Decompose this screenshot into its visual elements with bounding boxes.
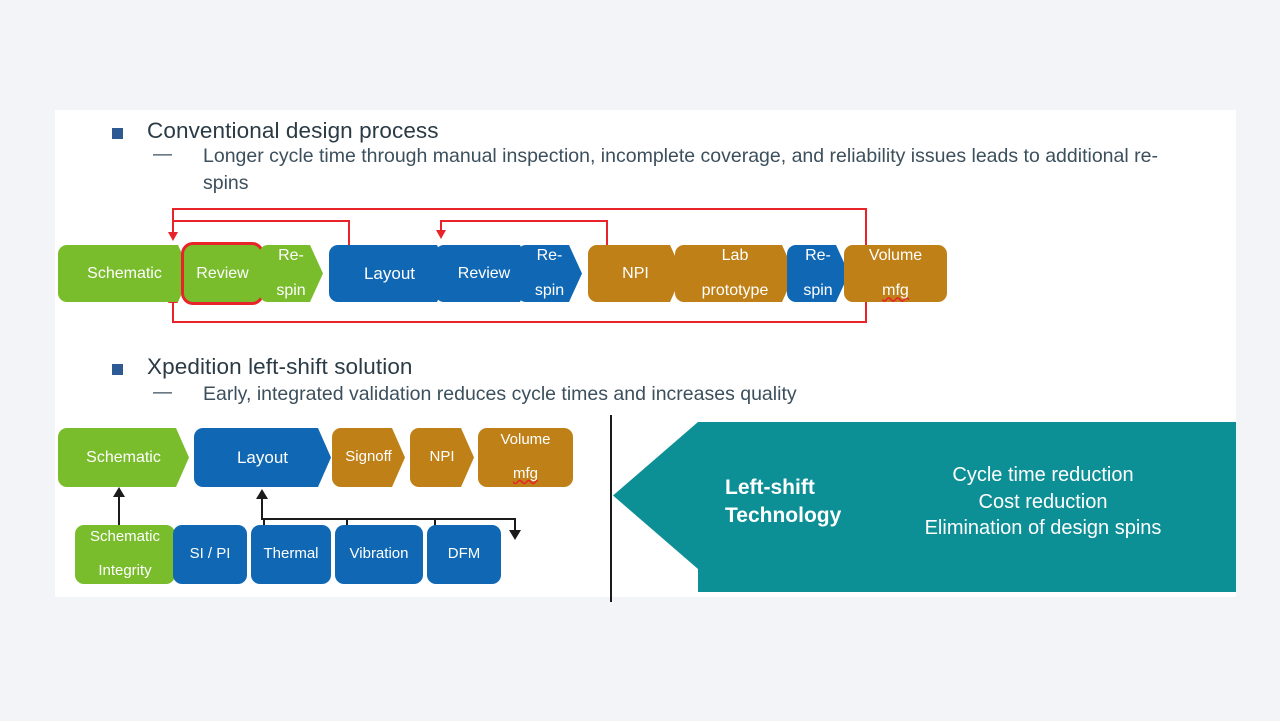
feedback-line-outer-right xyxy=(865,208,867,245)
flow-step-npi-1-label: NPI xyxy=(622,265,649,283)
ls-volume-line-1: Volume xyxy=(500,432,550,449)
flow-step-respin-2-label: Re- spin xyxy=(535,247,564,301)
ls-box-dfm[interactable]: DFM xyxy=(427,525,501,584)
flow-step-npi-1[interactable]: NPI xyxy=(588,245,683,302)
flow-step-respin-1-label: Re- spin xyxy=(276,247,305,301)
ls-step-npi-label: NPI xyxy=(429,449,454,466)
flow-step-schematic-label: Schematic xyxy=(87,265,162,283)
banner-benefit-item: Cost reduction xyxy=(853,489,1233,516)
flow-step-lab-prototype[interactable]: Lab prototype xyxy=(675,245,795,302)
connector-arrow-down-dfm xyxy=(509,530,521,540)
flow-step-lab-prototype-label: Lab prototype xyxy=(702,247,769,301)
section-2-detail: Early, integrated validation reduces cyc… xyxy=(203,381,797,408)
banner-title-line-2: Technology xyxy=(725,504,841,527)
feedback-line-outer-top xyxy=(172,208,867,210)
feedback-line-inner1-top xyxy=(172,220,350,222)
ls-box-vibration[interactable]: Vibration xyxy=(335,525,423,584)
flow-step-layout-label: Layout xyxy=(364,264,415,283)
flow-step-schematic[interactable]: Schematic xyxy=(58,245,191,302)
respin-1-line-2: spin xyxy=(276,282,305,300)
ls-step-npi[interactable]: NPI xyxy=(410,428,474,487)
volume-mfg-1-line-2: mfg xyxy=(869,282,922,300)
square-bullet-icon xyxy=(112,128,123,139)
feedback-arrow-to-layout xyxy=(436,230,446,239)
flow-step-layout[interactable]: Layout xyxy=(329,245,450,302)
left-shift-technology-banner: Left-shift Technology Cycle time reducti… xyxy=(613,422,1236,592)
banner-title-line-1: Left-shift xyxy=(725,476,815,499)
dash-marker-1: — xyxy=(153,144,172,166)
ls-box-dfm-label: DFM xyxy=(448,546,481,563)
ls-volume-line-2: mfg xyxy=(500,466,550,483)
banner-benefit-item: Elimination of design spins xyxy=(853,515,1233,542)
square-bullet-icon-2 xyxy=(112,364,123,375)
flow-step-review-1[interactable]: Review xyxy=(184,245,261,302)
feedback-line-inner2-top xyxy=(440,220,608,222)
feedback-arrow-to-schematic-top xyxy=(168,232,178,241)
section-2-title: Xpedition left-shift solution xyxy=(147,353,413,380)
lab-line-1: Lab xyxy=(702,247,769,265)
ls-box-thermal-label: Thermal xyxy=(263,546,318,563)
ls-step-signoff-label: Signoff xyxy=(345,449,391,466)
feedback-line-inner1-right xyxy=(348,220,350,245)
connector-arrow-up-layout xyxy=(256,489,268,499)
ls-box-si-pi[interactable]: SI / PI xyxy=(173,525,247,584)
feedback-line-bottom xyxy=(172,321,867,323)
connector-arrow-up-schematic xyxy=(113,487,125,497)
ls-step-layout[interactable]: Layout xyxy=(194,428,331,487)
slide-canvas: Conventional design process — Longer cyc… xyxy=(55,110,1236,597)
ls-step-layout-label: Layout xyxy=(237,448,288,467)
respin-2-line-1: Re- xyxy=(535,247,564,265)
ls-step-signoff[interactable]: Signoff xyxy=(332,428,405,487)
section-2-detail-row: — Early, integrated validation reduces c… xyxy=(153,381,1163,408)
vertical-divider xyxy=(610,415,612,602)
flow-step-respin-1[interactable]: Re- spin xyxy=(259,245,323,302)
dash-marker-2: — xyxy=(153,382,172,404)
flow-step-review-2-label: Review xyxy=(458,265,510,283)
flow-step-review-1-label: Review xyxy=(196,265,248,283)
respin-3-line-1: Re- xyxy=(803,247,832,265)
connector-schematic-vertical xyxy=(118,495,120,527)
flow-step-volume-mfg-1-label: Volume mfg xyxy=(869,247,922,301)
ls-box-schematic-integrity-label: Schematic Integrity xyxy=(90,529,160,579)
connector-bus xyxy=(263,518,515,520)
banner-benefits-list: Cycle time reduction Cost reduction Elim… xyxy=(853,462,1233,542)
banner-benefit-item: Cycle time reduction xyxy=(853,462,1233,489)
section-1-title: Conventional design process xyxy=(147,117,439,144)
connector-layout-stem xyxy=(261,497,263,520)
section-1-heading: Conventional design process xyxy=(112,117,439,144)
flow-step-respin-3[interactable]: Re- spin xyxy=(787,245,849,302)
lab-line-2: prototype xyxy=(702,282,769,300)
feedback-line-bottom-left xyxy=(172,302,174,322)
volume-mfg-1-line-1: Volume xyxy=(869,247,922,265)
feedback-line-bottom-right xyxy=(865,300,867,323)
flow-step-respin-3-label: Re- spin xyxy=(803,247,832,301)
ls-box-si-pi-label: SI / PI xyxy=(190,546,231,563)
schematic-integrity-line-1: Schematic xyxy=(90,529,160,546)
ls-step-schematic-label: Schematic xyxy=(86,449,161,467)
schematic-integrity-line-2: Integrity xyxy=(90,563,160,580)
section-1-detail-row: — Longer cycle time through manual inspe… xyxy=(153,143,1163,197)
banner-title: Left-shift Technology xyxy=(725,474,841,529)
feedback-line-inner2-right xyxy=(606,220,608,245)
ls-step-volume-mfg-label: Volume mfg xyxy=(500,432,550,482)
section-2-heading: Xpedition left-shift solution xyxy=(112,353,413,380)
flow-step-respin-2[interactable]: Re- spin xyxy=(517,245,582,302)
respin-2-line-2: spin xyxy=(535,282,564,300)
ls-step-schematic[interactable]: Schematic xyxy=(58,428,189,487)
respin-1-line-1: Re- xyxy=(276,247,305,265)
flow-step-volume-mfg-1[interactable]: Volume mfg xyxy=(844,245,947,302)
respin-3-line-2: spin xyxy=(803,282,832,300)
ls-step-volume-mfg[interactable]: Volume mfg xyxy=(478,428,573,487)
ls-box-schematic-integrity[interactable]: Schematic Integrity xyxy=(75,525,175,584)
ls-box-vibration-label: Vibration xyxy=(350,546,409,563)
section-1-detail: Longer cycle time through manual inspect… xyxy=(203,143,1163,197)
ls-box-thermal[interactable]: Thermal xyxy=(251,525,331,584)
